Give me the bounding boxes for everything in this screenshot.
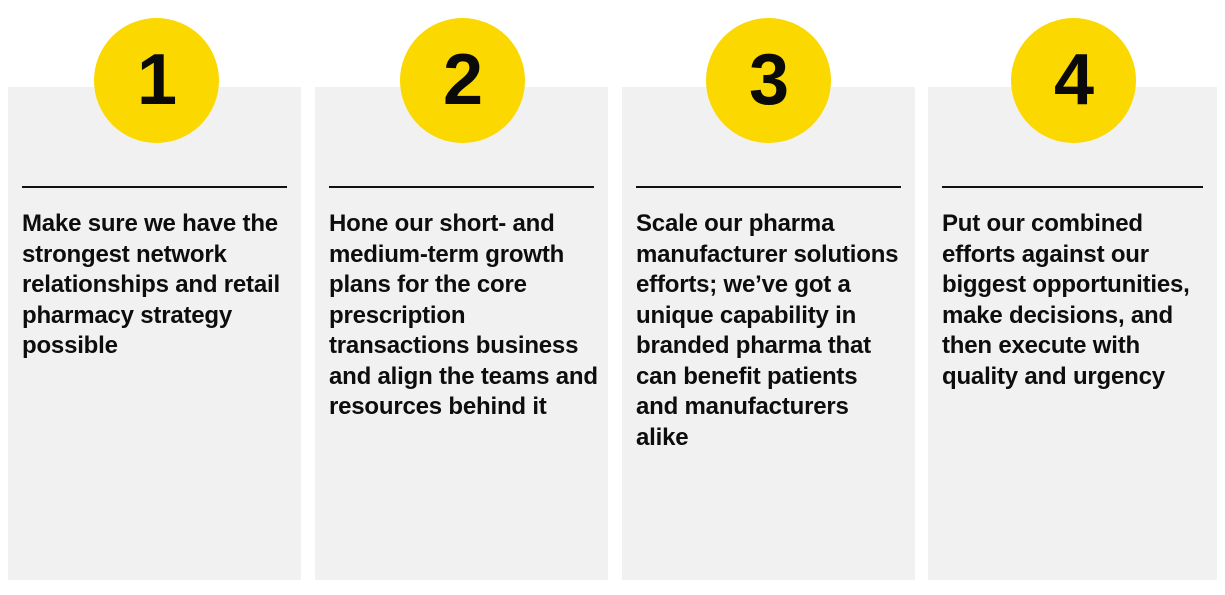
number-badge-1: 1: [94, 18, 219, 143]
badge-number-3: 3: [749, 44, 788, 116]
badge-number-4: 4: [1054, 44, 1093, 116]
card-divider-4: [942, 186, 1203, 188]
card-divider-1: [22, 186, 287, 188]
badge-number-2: 2: [443, 44, 482, 116]
priority-card-3: Scale our pharma manufacturer solutions …: [622, 87, 915, 580]
card-text-1: Make sure we have the strongest network …: [22, 209, 291, 362]
card-text-4: Put our combined efforts against our big…: [942, 209, 1207, 392]
card-divider-2: [329, 186, 594, 188]
card-body-3: Scale our pharma manufacturer solutions …: [636, 209, 905, 453]
number-badge-3: 3: [706, 18, 831, 143]
card-divider-3: [636, 186, 901, 188]
card-text-3: Scale our pharma manufacturer solutions …: [636, 209, 905, 453]
number-badge-4: 4: [1011, 18, 1136, 143]
priority-card-4: Put our combined efforts against our big…: [928, 87, 1217, 580]
card-body-2: Hone our short- and medium-term growth p…: [329, 209, 598, 423]
priority-card-2: Hone our short- and medium-term growth p…: [315, 87, 608, 580]
priorities-board: Make sure we have the strongest network …: [0, 0, 1225, 595]
card-body-1: Make sure we have the strongest network …: [22, 209, 291, 362]
priority-card-1: Make sure we have the strongest network …: [8, 87, 301, 580]
badge-number-1: 1: [137, 44, 176, 116]
card-body-4: Put our combined efforts against our big…: [942, 209, 1207, 392]
number-badge-2: 2: [400, 18, 525, 143]
card-text-2: Hone our short- and medium-term growth p…: [329, 209, 598, 423]
